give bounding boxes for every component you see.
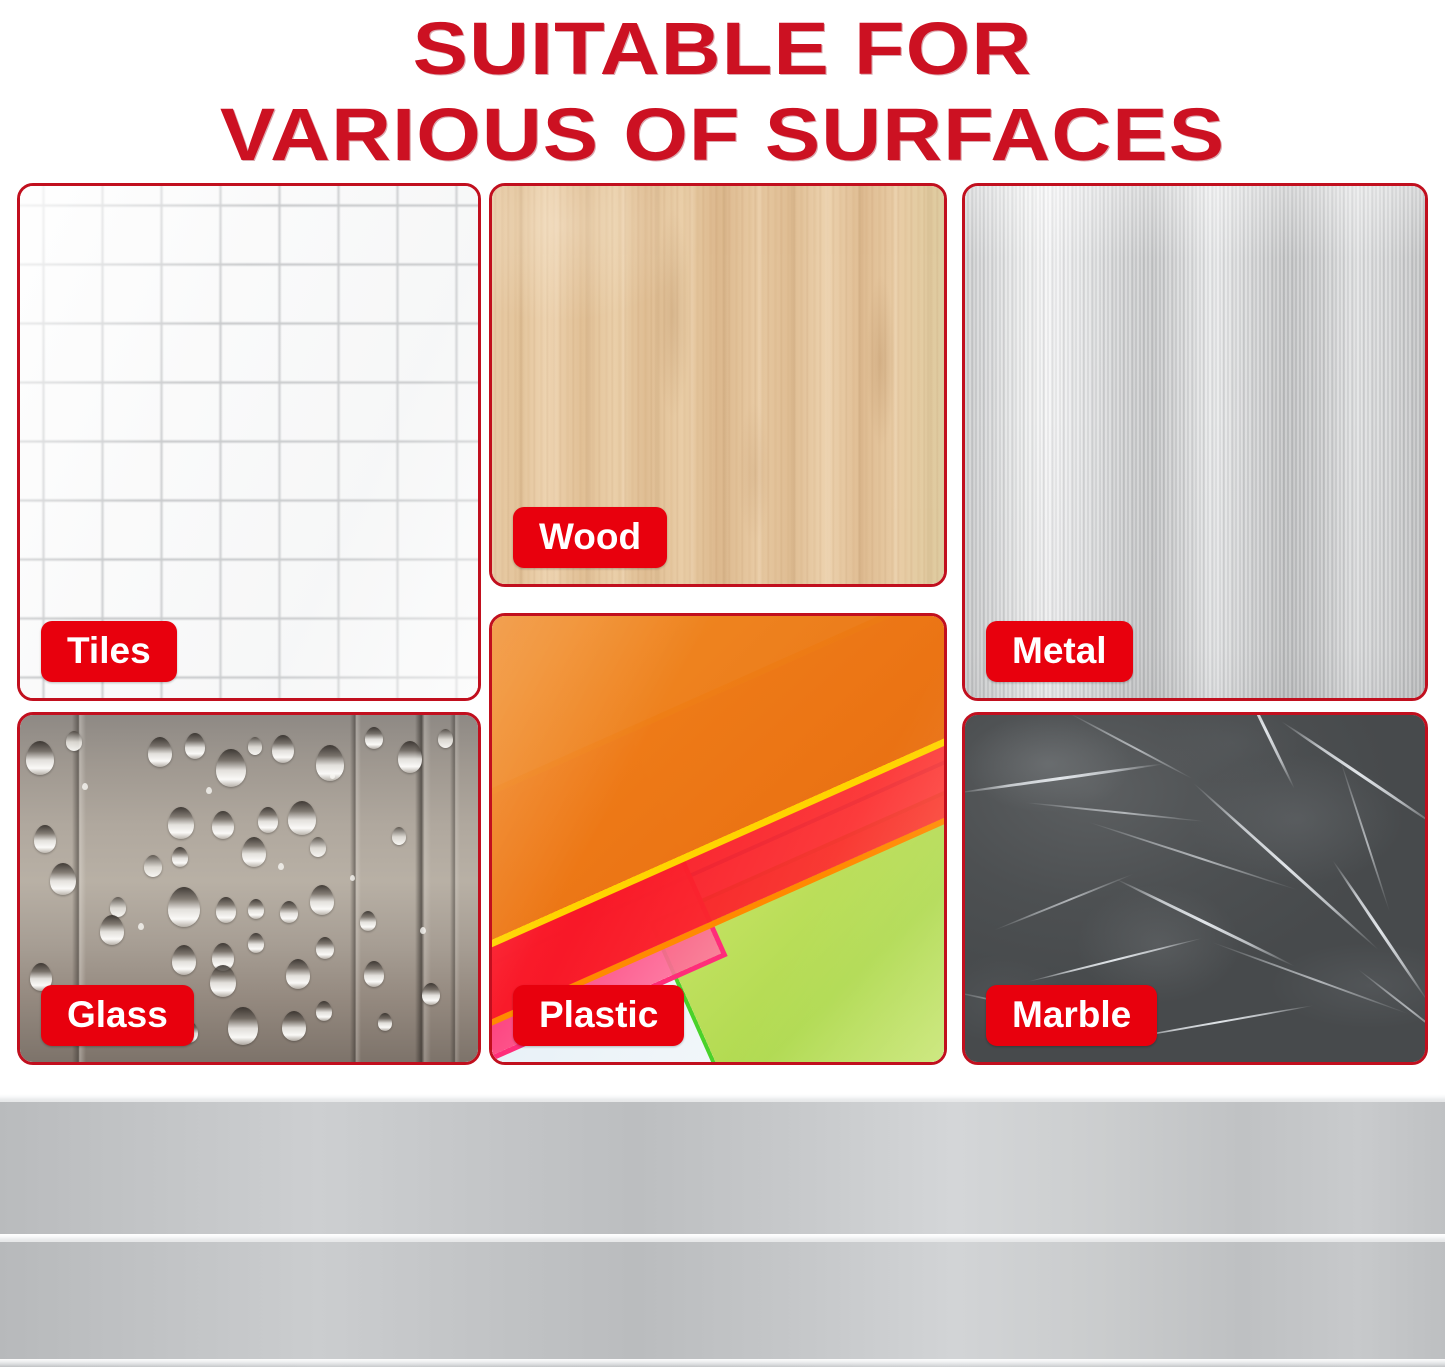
page-title-line-2: VARIOUS OF SURFACES	[0, 92, 1445, 178]
page-title: SUITABLE FOR VARIOUS OF SURFACES	[0, 0, 1445, 178]
surface-card-tiles[interactable]: Tiles	[17, 183, 481, 701]
footer-shelf-surface	[0, 1094, 1445, 1367]
surface-card-marble[interactable]: Marble	[962, 712, 1428, 1065]
surface-label-glass: Glass	[41, 985, 194, 1046]
surface-label-marble: Marble	[986, 985, 1157, 1046]
surface-card-glass[interactable]: Glass	[17, 712, 481, 1065]
page-title-line-1: SUITABLE FOR	[0, 6, 1445, 92]
surface-card-wood[interactable]: Wood	[489, 183, 947, 587]
shelf-divider-middle	[0, 1234, 1445, 1242]
surface-label-metal: Metal	[986, 621, 1133, 682]
surface-label-wood: Wood	[513, 507, 667, 568]
surface-card-plastic[interactable]: Plastic	[489, 613, 947, 1065]
shelf-divider-top	[0, 1094, 1445, 1102]
surface-card-metal[interactable]: Metal	[962, 183, 1428, 701]
shelf-panel-lower	[0, 1242, 1445, 1367]
surface-panel-grid: Tiles Wood Metal	[0, 183, 1445, 1068]
surface-label-plastic: Plastic	[513, 985, 684, 1046]
shelf-divider-bottom	[0, 1359, 1445, 1367]
shelf-panel-upper	[0, 1102, 1445, 1234]
surface-label-tiles: Tiles	[41, 621, 177, 682]
